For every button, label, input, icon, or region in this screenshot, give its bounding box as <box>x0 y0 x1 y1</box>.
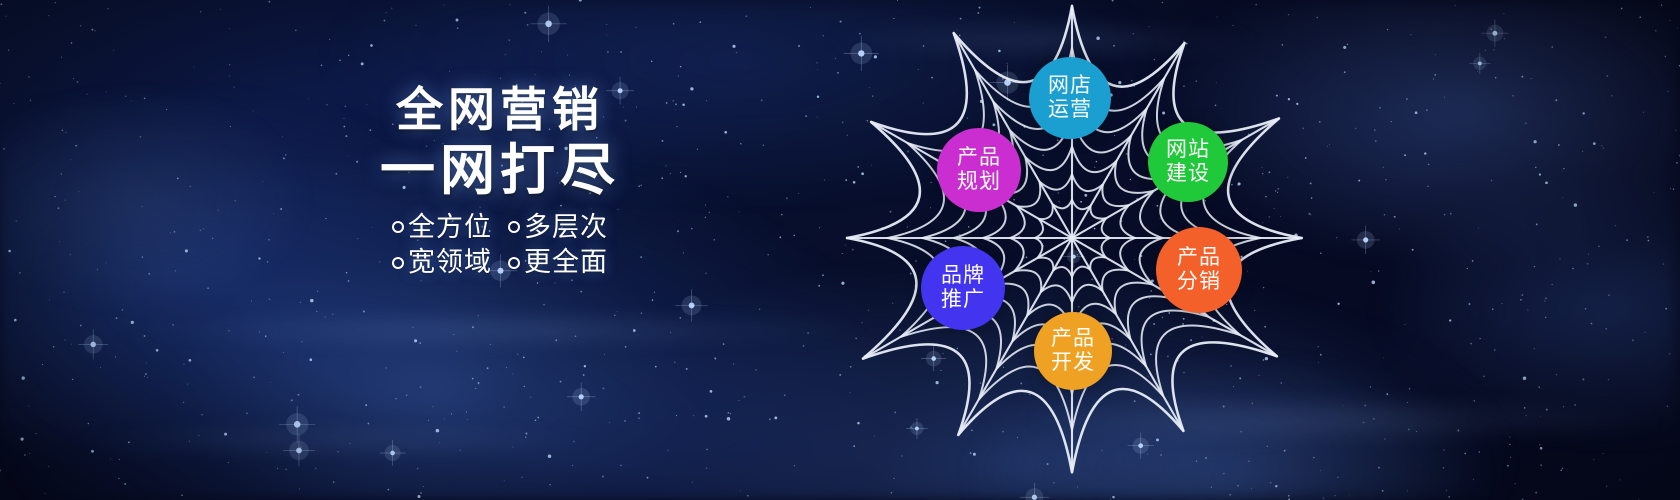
service-node-website-construction[interactable]: 网站建设 <box>1148 122 1228 202</box>
subtitle-item: 更全面 <box>508 245 608 280</box>
marketing-banner: 全网营销 一网打尽 全方位 多层次 宽领域 <box>0 0 1680 500</box>
headline-copy-block: 全网营销 一网打尽 全方位 多层次 宽领域 <box>355 84 645 280</box>
circle-outline-bullet-icon <box>508 257 520 269</box>
subtitle-item-label: 多层次 <box>524 210 608 245</box>
service-node-brand-promotion[interactable]: 品牌推广 <box>921 246 1005 330</box>
subtitle-item: 多层次 <box>508 210 608 245</box>
service-node-product-distribution[interactable]: 产品分销 <box>1156 227 1242 313</box>
subtitle-item-label: 全方位 <box>408 210 492 245</box>
subtitle-item: 全方位 <box>392 210 492 245</box>
service-node-label-line-1: 产品 <box>957 146 1001 170</box>
headline-line-2: 一网打尽 <box>355 139 645 202</box>
circle-outline-bullet-icon <box>392 257 404 269</box>
service-node-label-line-1: 产品 <box>1051 327 1095 351</box>
service-node-label-line-2: 规划 <box>957 170 1001 194</box>
circle-outline-bullet-icon <box>508 221 520 233</box>
service-node-label-line-2: 推广 <box>941 288 985 312</box>
subtitle-item: 宽领域 <box>392 245 492 280</box>
subtitle-list: 全方位 多层次 宽领域 更全面 <box>355 210 645 280</box>
subtitle-row: 宽领域 更全面 <box>355 245 645 280</box>
service-node-label-line-1: 品牌 <box>941 264 985 288</box>
headline-line-1: 全网营销 <box>355 84 645 137</box>
service-node-label-line-1: 网站 <box>1166 138 1210 162</box>
service-node-label-line-1: 产品 <box>1177 246 1221 270</box>
service-node-label-line-2: 建设 <box>1166 162 1210 186</box>
spider-web-diagram <box>770 0 1240 470</box>
spider-web-svg <box>770 0 1240 470</box>
service-node-label-line-2: 运营 <box>1048 98 1092 122</box>
subtitle-row: 全方位 多层次 <box>355 210 645 245</box>
service-node-label-line-1: 网店 <box>1048 74 1092 98</box>
circle-outline-bullet-icon <box>392 221 404 233</box>
subtitle-item-label: 宽领域 <box>408 245 492 280</box>
service-node-label-line-2: 开发 <box>1051 351 1095 375</box>
subtitle-item-label: 更全面 <box>524 245 608 280</box>
service-node-label-line-2: 分销 <box>1177 270 1221 294</box>
service-node-online-store-operations[interactable]: 网店运营 <box>1029 57 1111 139</box>
service-node-product-planning[interactable]: 产品规划 <box>937 128 1021 212</box>
service-node-product-development[interactable]: 产品开发 <box>1034 312 1112 390</box>
